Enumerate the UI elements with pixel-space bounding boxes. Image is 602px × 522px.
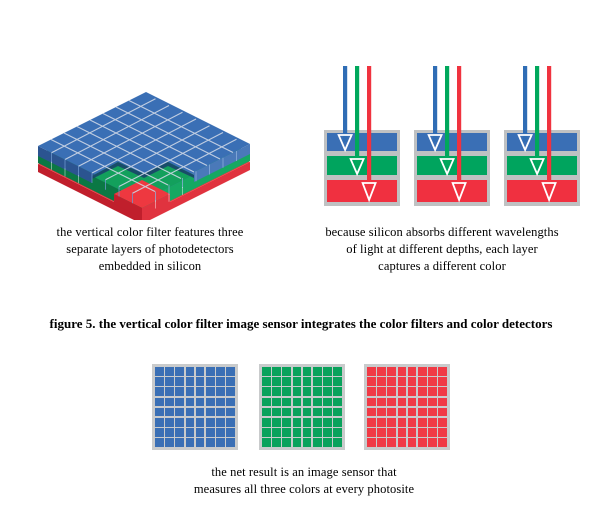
photosite-cell xyxy=(377,398,386,407)
sensor-block-1 xyxy=(324,130,400,206)
photosite-cell xyxy=(155,377,164,386)
photosite-cell xyxy=(175,418,184,427)
photosite-cell xyxy=(333,418,342,427)
photosite-cell xyxy=(175,387,184,396)
photosite-cell xyxy=(428,377,437,386)
photosite-cell xyxy=(262,367,271,376)
photosite-cell xyxy=(196,398,205,407)
photosite-cell xyxy=(186,367,195,376)
photosite-cell xyxy=(303,418,312,427)
photosite-cell xyxy=(293,428,302,437)
photosite-cell xyxy=(206,387,215,396)
photosite-cell xyxy=(428,428,437,437)
photosite-cell xyxy=(367,367,376,376)
photosite-cell xyxy=(408,428,417,437)
photosite-cell xyxy=(206,438,215,447)
photosite-cell xyxy=(303,398,312,407)
photosite-cell xyxy=(216,438,225,447)
photosite-cell xyxy=(387,408,396,417)
photosite-cell xyxy=(438,367,447,376)
photosite-caption-line-1: the net result is an image sensor that xyxy=(146,464,462,481)
photosite-cell xyxy=(186,398,195,407)
photosite-cell xyxy=(206,367,215,376)
photosite-cell xyxy=(367,398,376,407)
photosite-cell xyxy=(155,408,164,417)
photosite-cell xyxy=(155,387,164,396)
photosite-cell xyxy=(262,418,271,427)
photosite-cell xyxy=(398,408,407,417)
photosite-cell xyxy=(377,408,386,417)
photosite-cell xyxy=(408,398,417,407)
photosite-cell xyxy=(387,367,396,376)
cross-section-svg xyxy=(322,64,580,210)
photosite-cell xyxy=(438,398,447,407)
iso-caption-line-3: embedded in silicon xyxy=(10,258,290,275)
photosite-cell xyxy=(293,398,302,407)
photosite-cell xyxy=(398,428,407,437)
photosite-cell xyxy=(333,408,342,417)
photosite-cell xyxy=(206,418,215,427)
photosite-cell xyxy=(428,438,437,447)
photosite-cell xyxy=(272,428,281,437)
photosite-cell xyxy=(438,418,447,427)
silicon-depth-absorption-diagram xyxy=(322,64,580,210)
photosite-cell xyxy=(428,408,437,417)
photosite-cell xyxy=(303,438,312,447)
photosite-cell xyxy=(367,428,376,437)
photosite-cell xyxy=(398,387,407,396)
photosite-cell xyxy=(155,418,164,427)
photosite-cell xyxy=(313,377,322,386)
photosite-cell xyxy=(186,408,195,417)
photosite-cell xyxy=(333,438,342,447)
photosite-cell xyxy=(408,367,417,376)
photosite-cell xyxy=(272,377,281,386)
photosite-cell xyxy=(387,438,396,447)
photosite-cell xyxy=(367,408,376,417)
photosite-cell xyxy=(186,377,195,386)
photosite-cell xyxy=(438,408,447,417)
photosite-cell xyxy=(262,387,271,396)
photosite-cell xyxy=(196,418,205,427)
photosite-cell xyxy=(282,418,291,427)
photosite-cell xyxy=(262,428,271,437)
photosite-cell xyxy=(272,367,281,376)
sensor-block-3 xyxy=(504,130,580,206)
figure-caption: figure 5. the vertical color filter imag… xyxy=(0,316,602,332)
photosite-cell xyxy=(216,418,225,427)
photosite-cell xyxy=(165,408,174,417)
photosite-cell xyxy=(196,428,205,437)
photosite-cell xyxy=(377,367,386,376)
photosite-cell xyxy=(175,408,184,417)
photosite-cell xyxy=(367,418,376,427)
iso-caption-line-2: separate layers of photodetectors xyxy=(10,241,290,258)
photosite-cell xyxy=(272,387,281,396)
photosite-cell xyxy=(155,428,164,437)
photosite-cell xyxy=(418,377,427,386)
iso-caption-line-1: the vertical color filter features three xyxy=(10,224,290,241)
isometric-sensor-stack xyxy=(18,52,270,220)
photosite-cell xyxy=(428,367,437,376)
photosite-cell xyxy=(438,428,447,437)
photosite-cell xyxy=(408,438,417,447)
photosite-cell xyxy=(282,377,291,386)
photosite-cell xyxy=(367,438,376,447)
cross-caption-line-3: captures a different color xyxy=(292,258,592,275)
photosite-cell xyxy=(262,408,271,417)
photosite-cell xyxy=(282,398,291,407)
photosite-cell xyxy=(313,438,322,447)
photosite-cell xyxy=(377,387,386,396)
photosite-caption: the net result is an image sensor that m… xyxy=(146,464,462,498)
photosite-cell xyxy=(282,367,291,376)
photosite-cell xyxy=(398,367,407,376)
photosite-cell xyxy=(323,387,332,396)
photosite-cell xyxy=(418,438,427,447)
photosite-cell xyxy=(303,428,312,437)
photosite-cell xyxy=(428,387,437,396)
photosite-cell xyxy=(272,418,281,427)
photosite-cell xyxy=(303,408,312,417)
photosite-cell xyxy=(323,418,332,427)
photosite-cell xyxy=(313,387,322,396)
photosite-grid-row xyxy=(152,364,452,454)
cross-caption-line-2: of light at different depths, each layer xyxy=(292,241,592,258)
sensor-block-2 xyxy=(414,130,490,206)
photosite-cell xyxy=(186,418,195,427)
photosite-cell xyxy=(226,418,235,427)
photosite-cell xyxy=(323,408,332,417)
iso-panel-caption: the vertical color filter features three… xyxy=(10,224,290,275)
photosite-cell xyxy=(216,408,225,417)
red-photosite-grid xyxy=(364,364,450,450)
photosite-cell xyxy=(226,398,235,407)
photosite-cell xyxy=(216,367,225,376)
photosite-cell xyxy=(165,367,174,376)
photosite-cell xyxy=(165,418,174,427)
photosite-cell xyxy=(313,428,322,437)
photosite-cell xyxy=(155,367,164,376)
cross-caption-line-1: because silicon absorbs different wavele… xyxy=(292,224,592,241)
photosite-cell xyxy=(206,428,215,437)
photosite-cell xyxy=(216,398,225,407)
photosite-cell xyxy=(165,438,174,447)
photosite-cell xyxy=(293,377,302,386)
photosite-cell xyxy=(438,377,447,386)
photosite-cell xyxy=(303,377,312,386)
photosite-cell xyxy=(408,418,417,427)
photosite-cell xyxy=(428,418,437,427)
photosite-cell xyxy=(186,428,195,437)
photosite-cell xyxy=(175,377,184,386)
photosite-cell xyxy=(323,438,332,447)
photosite-cell xyxy=(293,408,302,417)
photosite-cell xyxy=(377,418,386,427)
photosite-cell xyxy=(226,377,235,386)
photosite-cell xyxy=(175,438,184,447)
photosite-cell xyxy=(398,438,407,447)
green-photosite-grid xyxy=(259,364,345,450)
photosite-cell xyxy=(333,367,342,376)
photosite-cell xyxy=(398,377,407,386)
photosite-cell xyxy=(367,377,376,386)
photosite-cell xyxy=(333,428,342,437)
photosite-cell xyxy=(262,438,271,447)
photosite-cell xyxy=(323,367,332,376)
photosite-cell xyxy=(323,398,332,407)
photosite-cell xyxy=(367,387,376,396)
photosite-cell xyxy=(196,377,205,386)
photosite-cell xyxy=(186,438,195,447)
isometric-stack-svg xyxy=(18,52,270,220)
photosite-cell xyxy=(313,418,322,427)
photosite-cell xyxy=(226,408,235,417)
photosite-cell xyxy=(155,438,164,447)
figure-stage: the vertical color filter features three… xyxy=(0,0,602,522)
photosite-cell xyxy=(282,428,291,437)
photosite-cell xyxy=(313,398,322,407)
photosite-cell xyxy=(303,387,312,396)
photosite-cell xyxy=(418,398,427,407)
photosite-cell xyxy=(272,398,281,407)
photosite-cell xyxy=(226,367,235,376)
photosite-cell xyxy=(418,408,427,417)
photosite-cell xyxy=(216,428,225,437)
photosite-cell xyxy=(408,377,417,386)
photosite-cell xyxy=(272,438,281,447)
photosite-cell xyxy=(206,408,215,417)
photosite-cell xyxy=(418,428,427,437)
photosite-cell xyxy=(333,377,342,386)
photosite-cell xyxy=(387,398,396,407)
photosite-cell xyxy=(377,428,386,437)
blue-photosite-grid xyxy=(152,364,238,450)
photosite-cell xyxy=(377,377,386,386)
photosite-cell xyxy=(323,428,332,437)
photosite-cell xyxy=(293,367,302,376)
photosite-cell xyxy=(408,408,417,417)
photosite-cell xyxy=(418,367,427,376)
photosite-cell xyxy=(333,398,342,407)
photosite-cell xyxy=(216,387,225,396)
photosite-cell xyxy=(313,367,322,376)
photosite-cell xyxy=(377,438,386,447)
photosite-cell xyxy=(282,408,291,417)
photosite-cell xyxy=(438,387,447,396)
photosite-cell xyxy=(387,418,396,427)
photosite-cell xyxy=(226,428,235,437)
photosite-cell xyxy=(226,438,235,447)
photosite-cell xyxy=(165,387,174,396)
photosite-cell xyxy=(282,438,291,447)
photosite-cell xyxy=(408,387,417,396)
photosite-cell xyxy=(387,377,396,386)
photosite-cell xyxy=(175,428,184,437)
photosite-cell xyxy=(206,398,215,407)
photosite-cell xyxy=(216,377,225,386)
photosite-cell xyxy=(165,377,174,386)
photosite-cell xyxy=(293,438,302,447)
photosite-cell xyxy=(196,387,205,396)
photosite-cell xyxy=(175,367,184,376)
photosite-cell xyxy=(293,387,302,396)
photosite-cell xyxy=(226,387,235,396)
photosite-cell xyxy=(196,408,205,417)
photosite-cell xyxy=(165,398,174,407)
photosite-cell xyxy=(303,367,312,376)
photosite-cell xyxy=(333,387,342,396)
photosite-cell xyxy=(398,398,407,407)
photosite-cell xyxy=(272,408,281,417)
photosite-cell xyxy=(262,377,271,386)
photosite-cell xyxy=(155,398,164,407)
photosite-cell xyxy=(186,387,195,396)
photosite-cell xyxy=(428,398,437,407)
photosite-cell xyxy=(313,408,322,417)
photosite-caption-line-2: measures all three colors at every photo… xyxy=(146,481,462,498)
cross-section-caption: because silicon absorbs different wavele… xyxy=(292,224,592,275)
photosite-cell xyxy=(418,418,427,427)
photosite-cell xyxy=(196,367,205,376)
photosite-cell xyxy=(262,398,271,407)
photosite-cell xyxy=(206,377,215,386)
photosite-cell xyxy=(418,387,427,396)
photosite-cell xyxy=(398,418,407,427)
photosite-cell xyxy=(282,387,291,396)
photosite-cell xyxy=(323,377,332,386)
photosite-cell xyxy=(165,428,174,437)
photosite-cell xyxy=(387,387,396,396)
photosite-cell xyxy=(196,438,205,447)
photosite-cell xyxy=(175,398,184,407)
photosite-cell xyxy=(387,428,396,437)
photosite-cell xyxy=(438,438,447,447)
photosite-cell xyxy=(293,418,302,427)
